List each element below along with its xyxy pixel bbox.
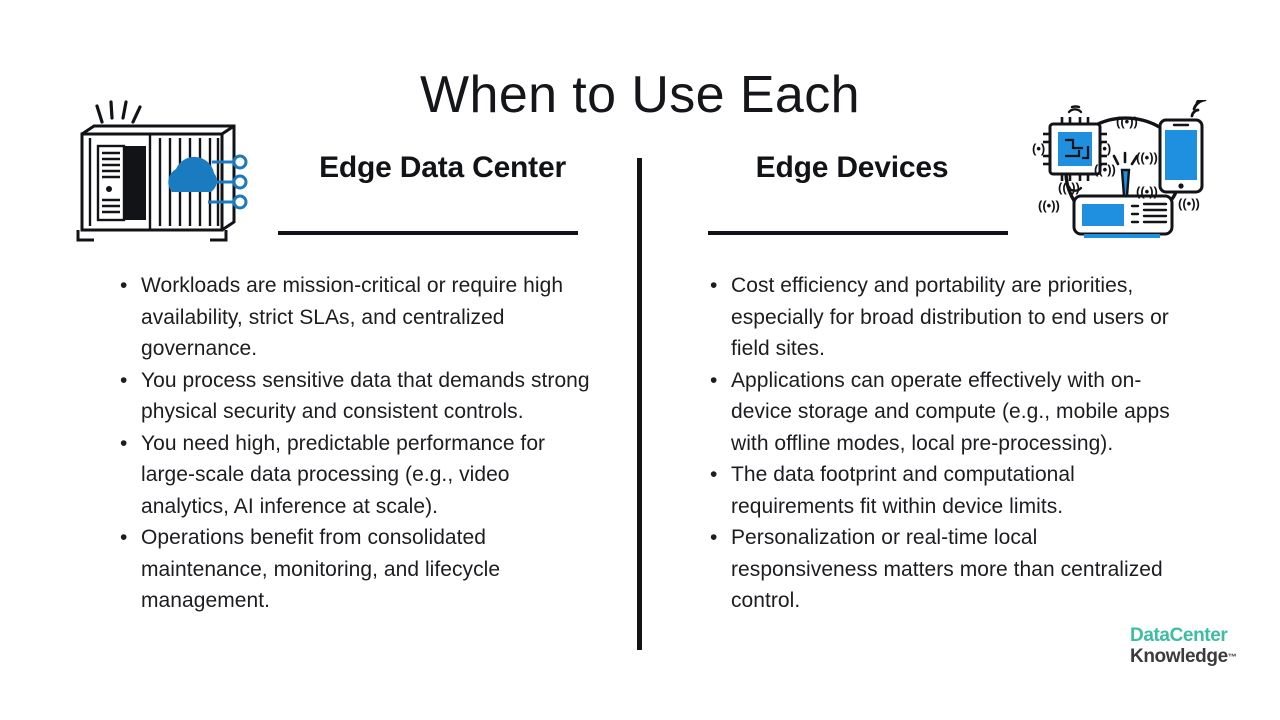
list-item: You need high, predictable performance f… bbox=[118, 428, 593, 523]
column-title-rule bbox=[708, 231, 1008, 235]
column-title: Edge Data Center bbox=[270, 150, 615, 186]
column-header: Edge Devices bbox=[672, 150, 1212, 246]
column-title-rule bbox=[278, 231, 578, 235]
column-edge-devices: Edge Devices bbox=[672, 150, 1212, 246]
brand-logo-line-1: DataCenter bbox=[1130, 626, 1254, 645]
trademark-icon: ™ bbox=[1228, 652, 1237, 662]
brand-logo-line-2: Knowledge™ bbox=[1130, 647, 1254, 666]
svg-text:((•)): ((•)) bbox=[1116, 114, 1138, 129]
list-item: Operations benefit from consolidated mai… bbox=[118, 522, 593, 617]
list-item: You process sensitive data that demands … bbox=[118, 365, 593, 428]
column-header: Edge Data Center bbox=[70, 150, 615, 246]
list-item: Cost efficiency and portability are prio… bbox=[708, 270, 1188, 365]
column-title: Edge Devices bbox=[672, 150, 1032, 186]
list-item: Personalization or real-time local respo… bbox=[708, 522, 1188, 617]
list-item: The data footprint and computational req… bbox=[708, 459, 1188, 522]
brand-logo-word: Knowledge bbox=[1130, 646, 1228, 667]
column-divider bbox=[637, 158, 642, 650]
slide-canvas: When to Use Each bbox=[0, 0, 1280, 720]
column-edge-data-center: Edge Data Center bbox=[70, 150, 615, 246]
bullet-list-edge-devices: Cost efficiency and portability are prio… bbox=[708, 270, 1188, 617]
list-item: Applications can operate effectively wit… bbox=[708, 365, 1188, 460]
bullet-list-edge-data-center: Workloads are mission-critical or requir… bbox=[118, 270, 593, 617]
list-item: Workloads are mission-critical or requir… bbox=[118, 270, 593, 365]
brand-logo: DataCenter Knowledge™ bbox=[1130, 626, 1254, 666]
